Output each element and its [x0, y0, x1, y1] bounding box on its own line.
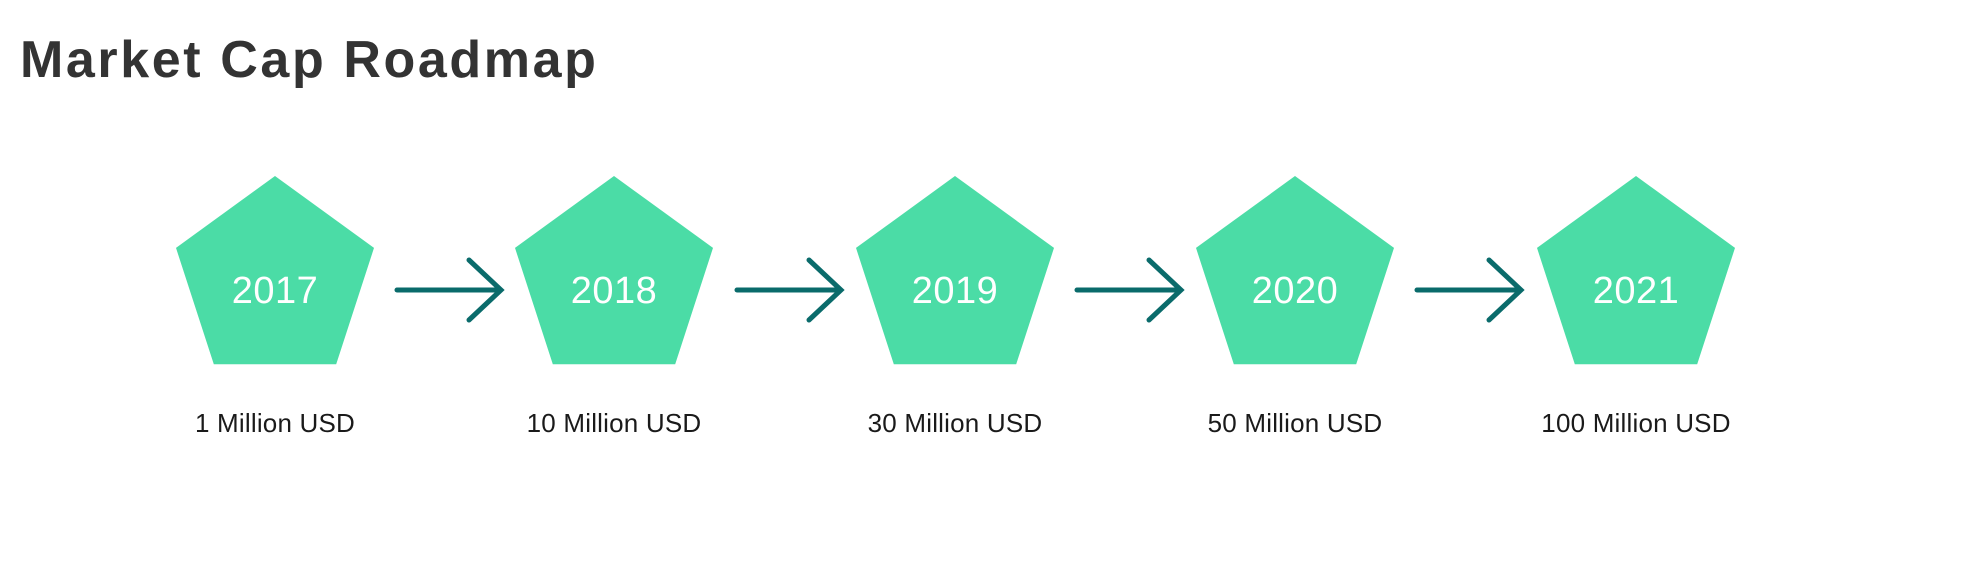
- page-title: Market Cap Roadmap: [20, 32, 598, 89]
- roadmap-stage-2017[interactable]: 2017 1 Million USD: [155, 150, 395, 480]
- arrow-right-icon: [1073, 250, 1191, 322]
- pentagon-shape-2018[interactable]: 2018: [515, 176, 713, 374]
- arrow-right-icon: [1413, 250, 1531, 322]
- stage-value-label: 30 Million USD: [815, 408, 1095, 439]
- pentagon-shape-2021[interactable]: 2021: [1537, 176, 1735, 374]
- connector-arrow-3: [1073, 250, 1191, 322]
- pentagon-icon: [856, 176, 1054, 374]
- connector-arrow-2: [733, 250, 851, 322]
- stage-value-label: 10 Million USD: [474, 408, 754, 439]
- stage-value-label: 100 Million USD: [1496, 408, 1776, 439]
- connector-arrow-4: [1413, 250, 1531, 322]
- pentagon-shape-2019[interactable]: 2019: [856, 176, 1054, 374]
- roadmap-stage-2018[interactable]: 2018 10 Million USD: [494, 150, 734, 480]
- roadmap-stage-2019[interactable]: 2019 30 Million USD: [835, 150, 1075, 480]
- roadmap-canvas: Market Cap Roadmap 2017 1 Million USD: [0, 0, 1964, 562]
- roadmap-stage-2021[interactable]: 2021 100 Million USD: [1516, 150, 1756, 480]
- pentagon-icon: [176, 176, 374, 374]
- pentagon-icon: [515, 176, 713, 374]
- stage-value-label: 1 Million USD: [135, 408, 415, 439]
- stage-value-label: 50 Million USD: [1155, 408, 1435, 439]
- pentagon-icon: [1537, 176, 1735, 374]
- pentagon-shape-2020[interactable]: 2020: [1196, 176, 1394, 374]
- pentagon-shape-2017[interactable]: 2017: [176, 176, 374, 374]
- arrow-right-icon: [733, 250, 851, 322]
- pentagon-icon: [1196, 176, 1394, 374]
- roadmap-stage-2020[interactable]: 2020 50 Million USD: [1175, 150, 1415, 480]
- roadmap-row: 2017 1 Million USD 2018 10 Million USD: [0, 150, 1964, 480]
